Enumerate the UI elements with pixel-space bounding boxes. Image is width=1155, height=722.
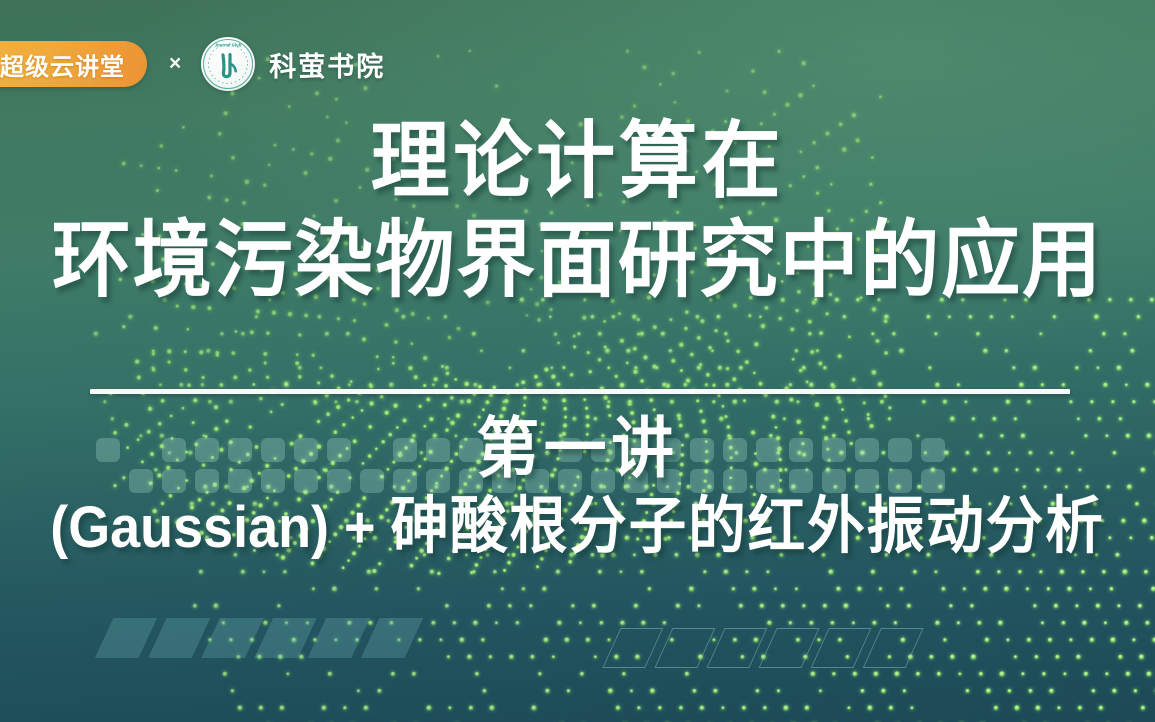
diagonal-stripe-band-left [104, 618, 414, 658]
software-name-label: (Gaussian) [50, 495, 329, 560]
journal-club-emblem-icon: Journal Club [201, 37, 255, 91]
lecture-topic-label: (Gaussian) + 砷酸根分子的红外振动分析 [40, 493, 1114, 560]
badge-text: Journal Club [215, 42, 242, 47]
title-line-1: 理论计算在 [35, 118, 1121, 205]
title-line-2: 环境污染物界面研究中的应用 [35, 217, 1121, 304]
page-title: 理论计算在 环境污染物界面研究中的应用 [0, 118, 1155, 305]
subtitle-block: 第一讲 (Gaussian) + 砷酸根分子的红外振动分析 [0, 414, 1155, 560]
topic-rest-label: 砷酸根分子的红外振动分析 [390, 489, 1104, 562]
topic-join-label: + [329, 495, 390, 560]
collab-x-icon: × [169, 52, 181, 76]
diagonal-stripe-band-right [611, 628, 914, 668]
channel-badge-button[interactable]: 超级云讲堂 [0, 41, 147, 87]
org-name-label: 科萤书院 [269, 45, 385, 84]
title-divider [90, 389, 1070, 394]
poster-canvas: 超级云讲堂 × Journal Club 科萤书院 理论计算在 环境污染物界面研… [0, 0, 1155, 722]
brand-header: 超级云讲堂 × Journal Club 科萤书院 [0, 36, 385, 92]
glowing-dot-grid [0, 0, 1155, 722]
lecture-number-label: 第一讲 [29, 414, 1126, 483]
